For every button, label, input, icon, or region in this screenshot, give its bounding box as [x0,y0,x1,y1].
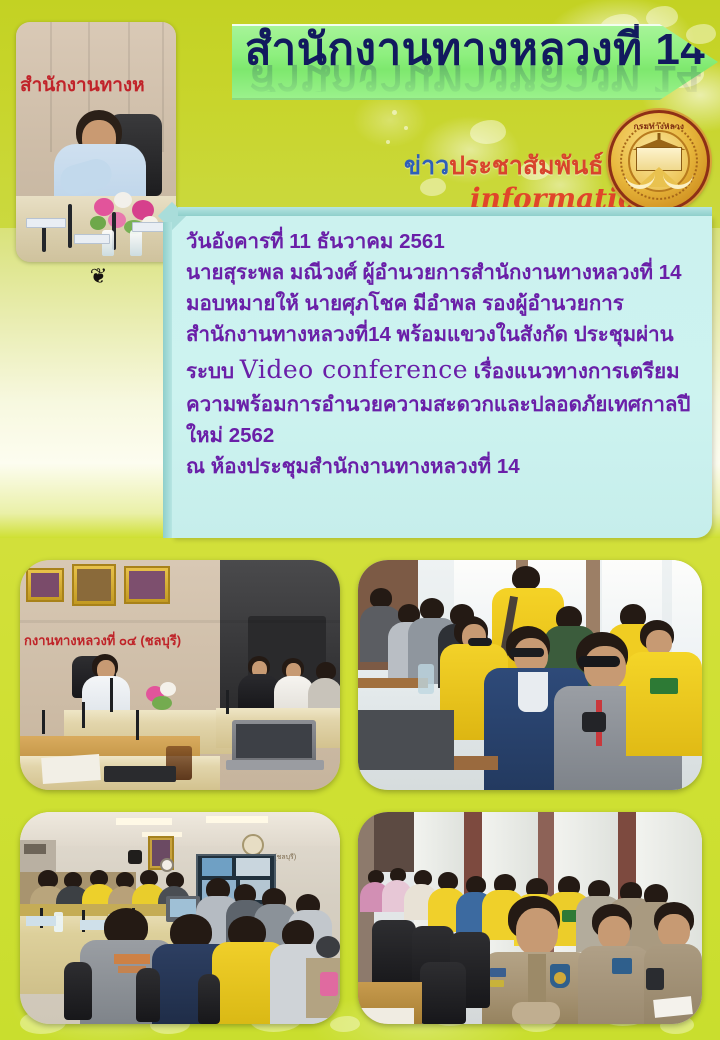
photo-meeting-room-wide-with-projector: ที่ ๑๔ (ชลบุรี) [20,812,340,1024]
information-textbox: วันอังคารที่ 11 ธันวาคม 2561 นายสุระพล ม… [172,216,712,538]
info-line-video-conference: ระบบ Video conference เรื่องแนวทางการเตร… [186,351,704,389]
info-line-year: ใหม่ 2562 [186,420,704,451]
info-video-prefix: ระบบ [186,360,234,383]
news-heading-thai-blue: ข่าว [404,152,449,180]
info-video-term: Video conference [240,355,468,384]
photo-audience-seated-rows [358,560,702,790]
information-body-text: วันอังคารที่ 11 ธันวาคม 2561 นายสุระพล ม… [186,226,704,482]
info-line-assignment: มอบหมายให้ นายศุภโชค มีอำพล รองผู้อำนวยก… [186,288,704,319]
photo-conference-room-head-table: กงานทางหลวงที่ ๐๔ (ชลบุรี) [20,560,340,790]
info-line-venue: ณ ห้องประชุมสำนักงานทางหลวงที่ 14 [186,451,704,482]
page-title: สำนักงานทางหลวงที่ 14 [245,28,706,72]
photo-police-officers-attending [358,812,702,1024]
photo-wall-sign-text-ml: กงานทางหลวงที่ ๐๔ (ชลบุรี) [24,630,181,651]
title-banner: สำนักงานทางหลวงที่ 14 [232,24,718,100]
ornament-flourish: ❦ [22,266,174,286]
info-video-suffix: เรื่องแนวทางการเตรียม [474,360,680,383]
photo-wall-sign-text: สำนักงานทางห [20,70,176,100]
info-line-office: สำนักงานทางหลวงที่14 พร้อมแขวงในสังกัด ป… [186,319,704,350]
poster-root: สำนักงานทางหลวงที่ 14 สำนักงานทางหลวงที่… [0,0,720,1040]
info-line-topic: ความพร้อมการอำนวยความสะดวกและปลอดภัยเทศก… [186,389,704,420]
news-heading-thai-red: ประชาสัมพันธ์ [449,152,603,180]
flourish-glyph: ❦ [90,266,107,287]
info-line-date: วันอังคารที่ 11 ธันวาคม 2561 [186,226,704,257]
news-heading: ข่าวประชาสัมพันธ์ [404,146,603,186]
info-line-director: นายสุระพล มณีวงศ์ ผู้อำนวยการสำนักงานทาง… [186,257,704,288]
department-of-highways-seal-icon: กรมทางหลวง [608,110,710,212]
seal-arc-text: กรมทางหลวง [611,120,707,133]
photo-director-at-meeting-table: สำนักงานทางห [16,22,176,262]
